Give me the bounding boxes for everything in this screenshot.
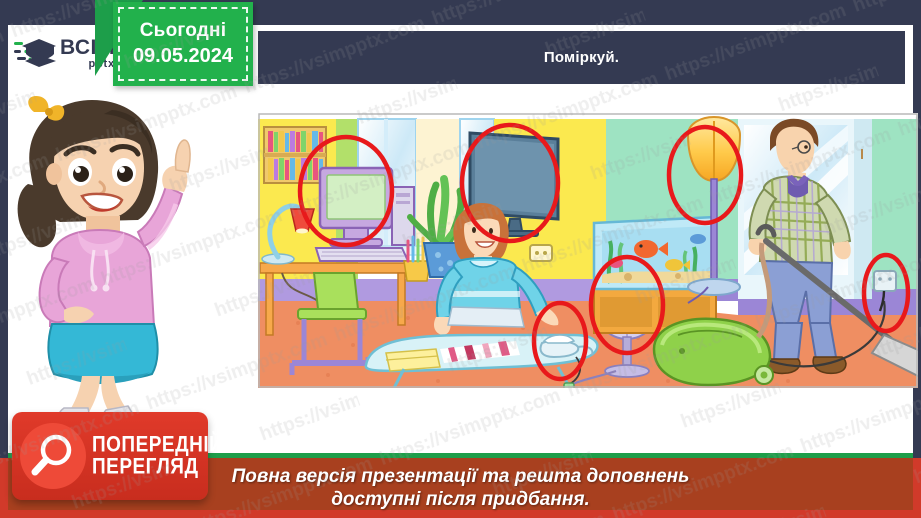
graduation-cap-icon (14, 35, 56, 71)
preview-badge-line1: ПОПЕРЕДНІЙ (92, 434, 223, 456)
slide-title-bar: Поміркуй. (258, 31, 905, 84)
mascot-girl-illustration (8, 88, 223, 418)
preview-badge-text: ПОПЕРЕДНІЙ ПЕРЕГЛЯД (92, 434, 223, 479)
slide-frame-left (0, 0, 8, 500)
presentation-slide: ВСІМ pptx Сьогодні 09.05.2024 Поміркуй. (0, 0, 921, 518)
preview-badge-line2: ПЕРЕГЛЯД (92, 456, 223, 478)
date-label: Сьогодні (140, 19, 226, 43)
date-value: 09.05.2024 (133, 43, 233, 69)
preview-badge[interactable]: ПОПЕРЕДНІЙ ПЕРЕГЛЯД (12, 412, 208, 500)
magnifier-icon (20, 423, 86, 489)
page-title: Поміркуй. (544, 49, 619, 66)
date-badge: Сьогодні 09.05.2024 (113, 2, 253, 86)
room-illustration (258, 113, 918, 388)
